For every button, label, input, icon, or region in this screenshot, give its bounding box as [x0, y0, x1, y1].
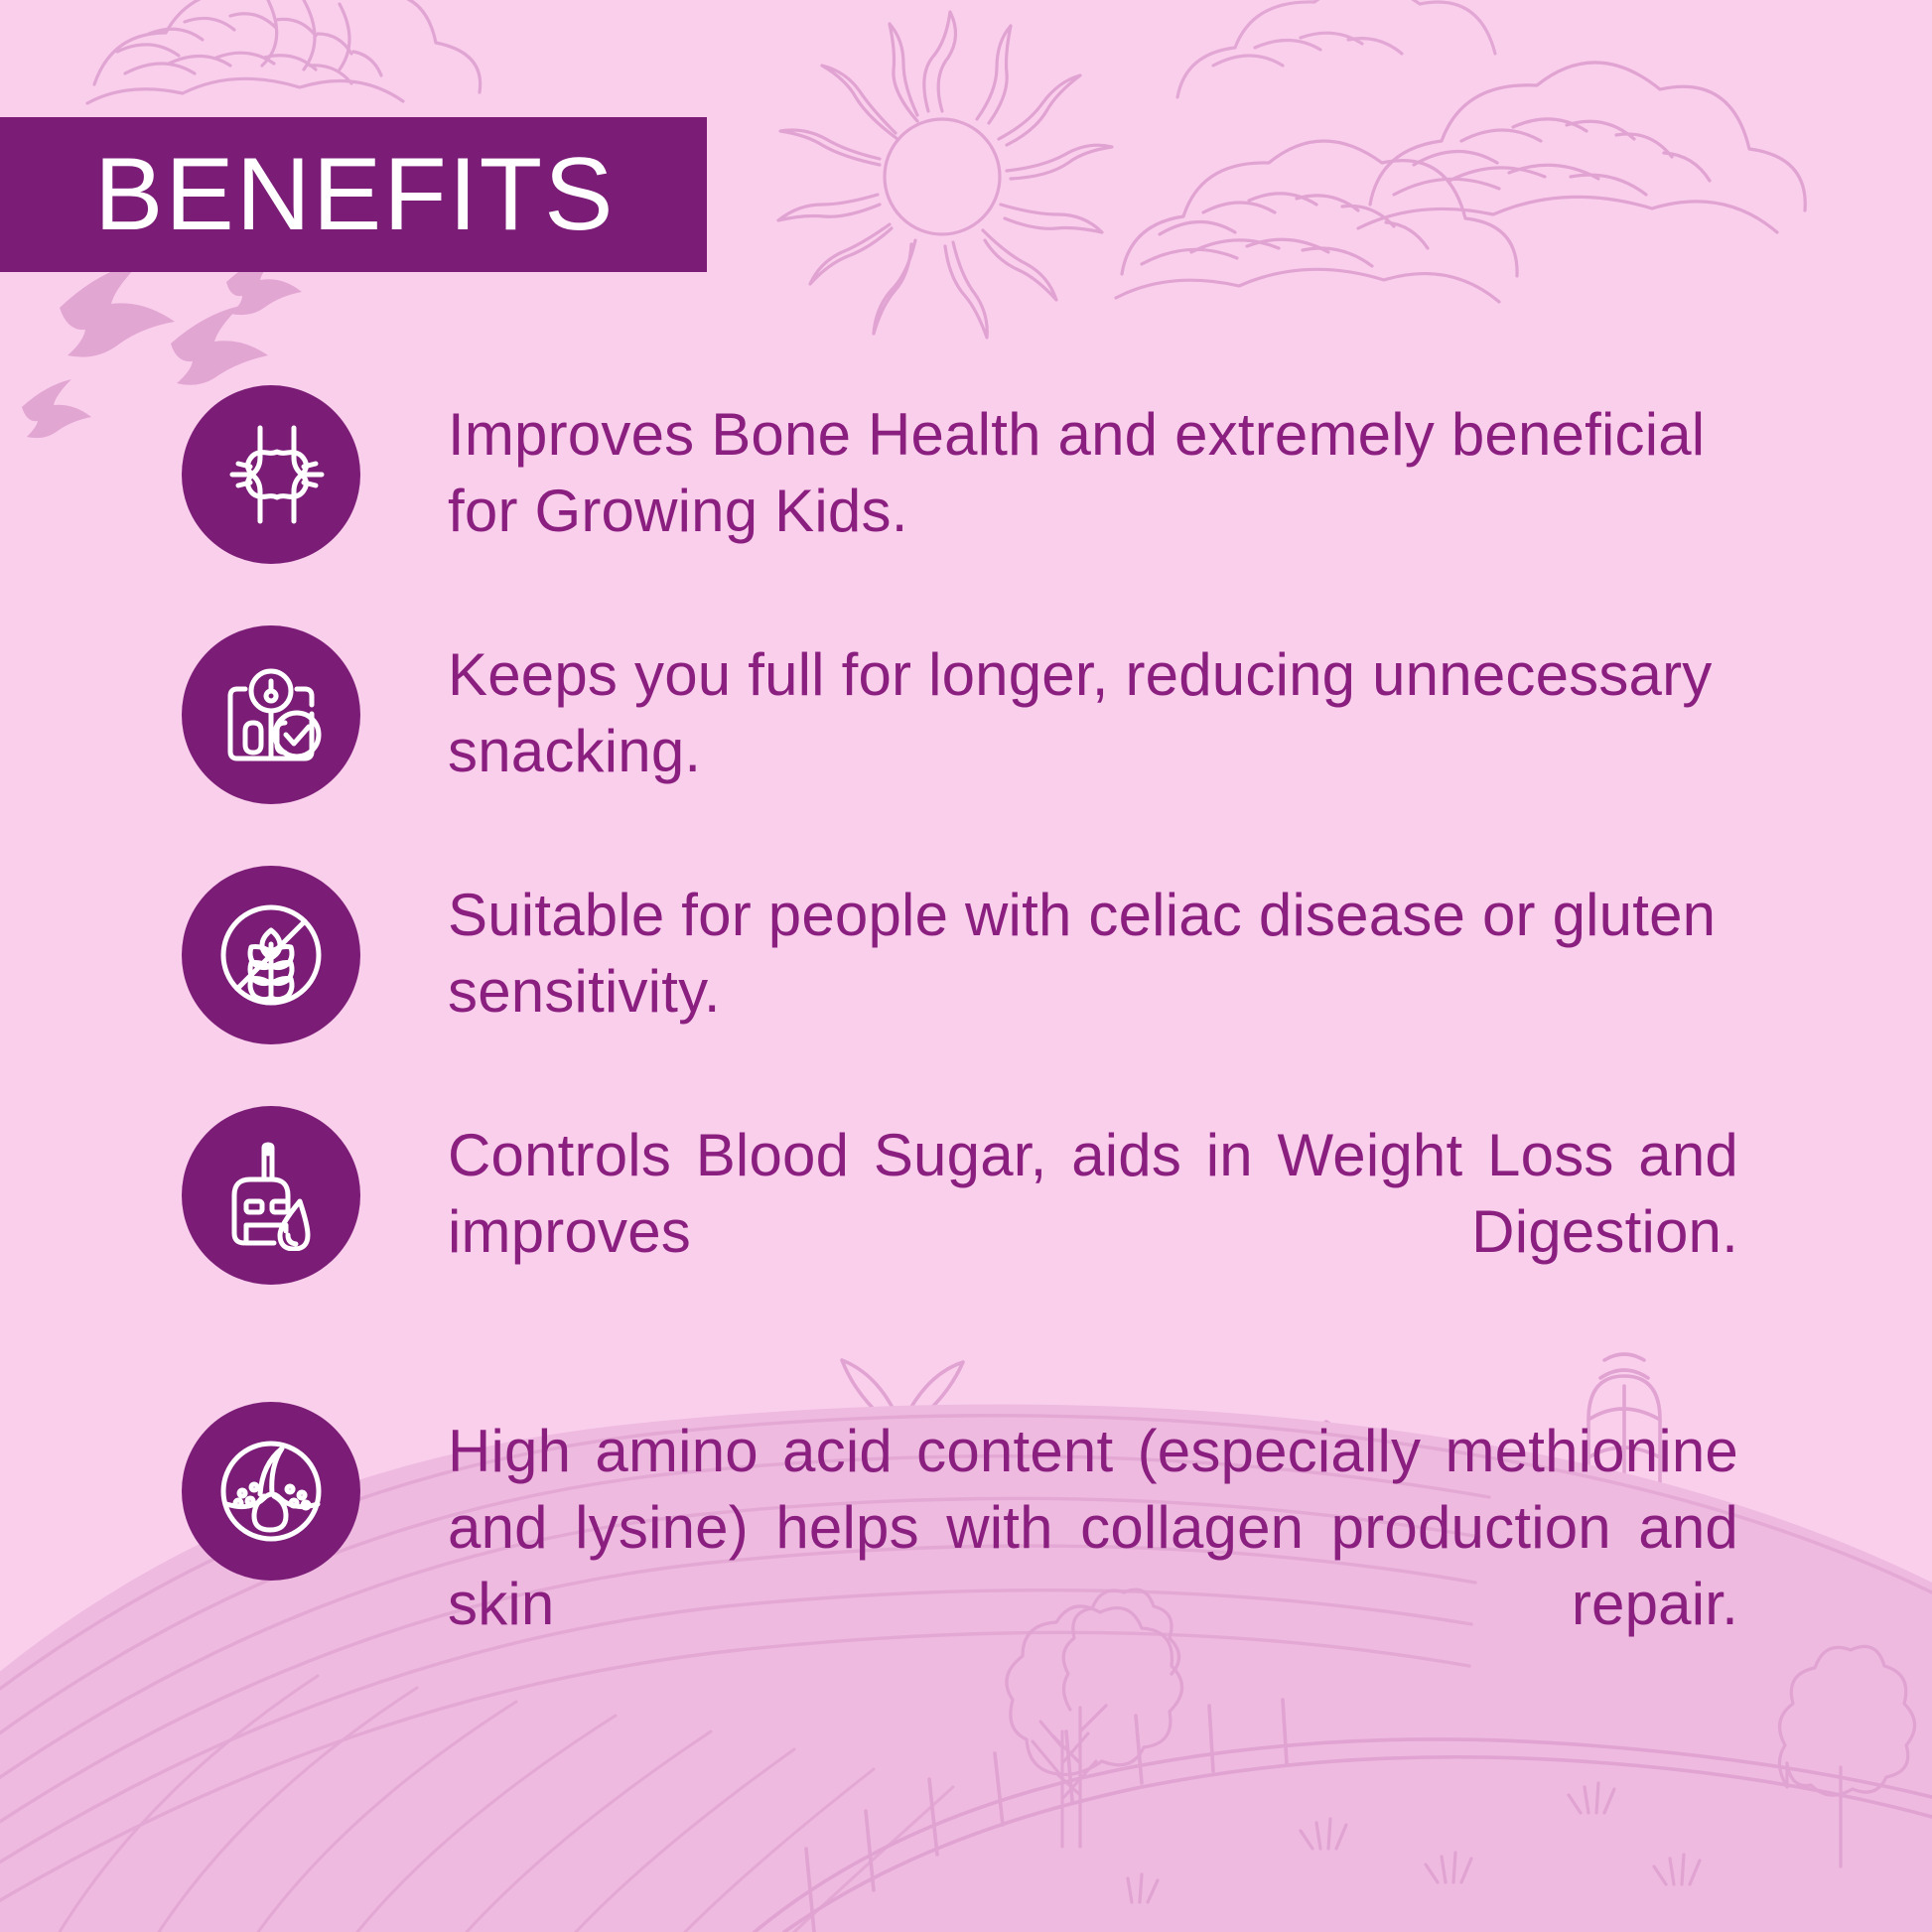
grass-tuft-icon [1128, 1783, 1700, 1902]
sun-icon [778, 12, 1112, 338]
benefit-item: High amino acid content (especially meth… [0, 1402, 1932, 1719]
benefit-item: Suitable for people with celiac disease … [0, 866, 1932, 1050]
benefit-item: Controls Blood Sugar, aids in Weight Los… [0, 1106, 1932, 1346]
benefit-text: Keeps you full for longer, reducing unne… [448, 625, 1738, 790]
cloud-icon [1177, 0, 1495, 97]
benefit-text: Improves Bone Health and extremely benef… [448, 385, 1738, 550]
benefit-item: Keeps you full for longer, reducing unne… [0, 625, 1932, 810]
benefits-list: Improves Bone Health and extremely benef… [0, 385, 1932, 1775]
benefit-text: Controls Blood Sugar, aids in Weight Los… [448, 1106, 1738, 1346]
weight-scale-check-icon [182, 625, 360, 804]
cloud-icon [1116, 141, 1517, 302]
page-title: BENEFITS [94, 143, 616, 246]
bone-joint-icon [182, 385, 360, 564]
glucose-meter-icon [182, 1106, 360, 1285]
benefit-item: Improves Bone Health and extremely benef… [0, 385, 1932, 570]
benefit-text: Suitable for people with celiac disease … [448, 866, 1738, 1031]
cloud-icon [87, 0, 481, 103]
benefit-text: High amino acid content (especially meth… [448, 1402, 1738, 1719]
cloud-icon [1358, 63, 1805, 232]
hair-follicle-skin-icon [182, 1402, 360, 1581]
gluten-free-wheat-icon [182, 866, 360, 1044]
title-banner: BENEFITS [0, 117, 707, 272]
